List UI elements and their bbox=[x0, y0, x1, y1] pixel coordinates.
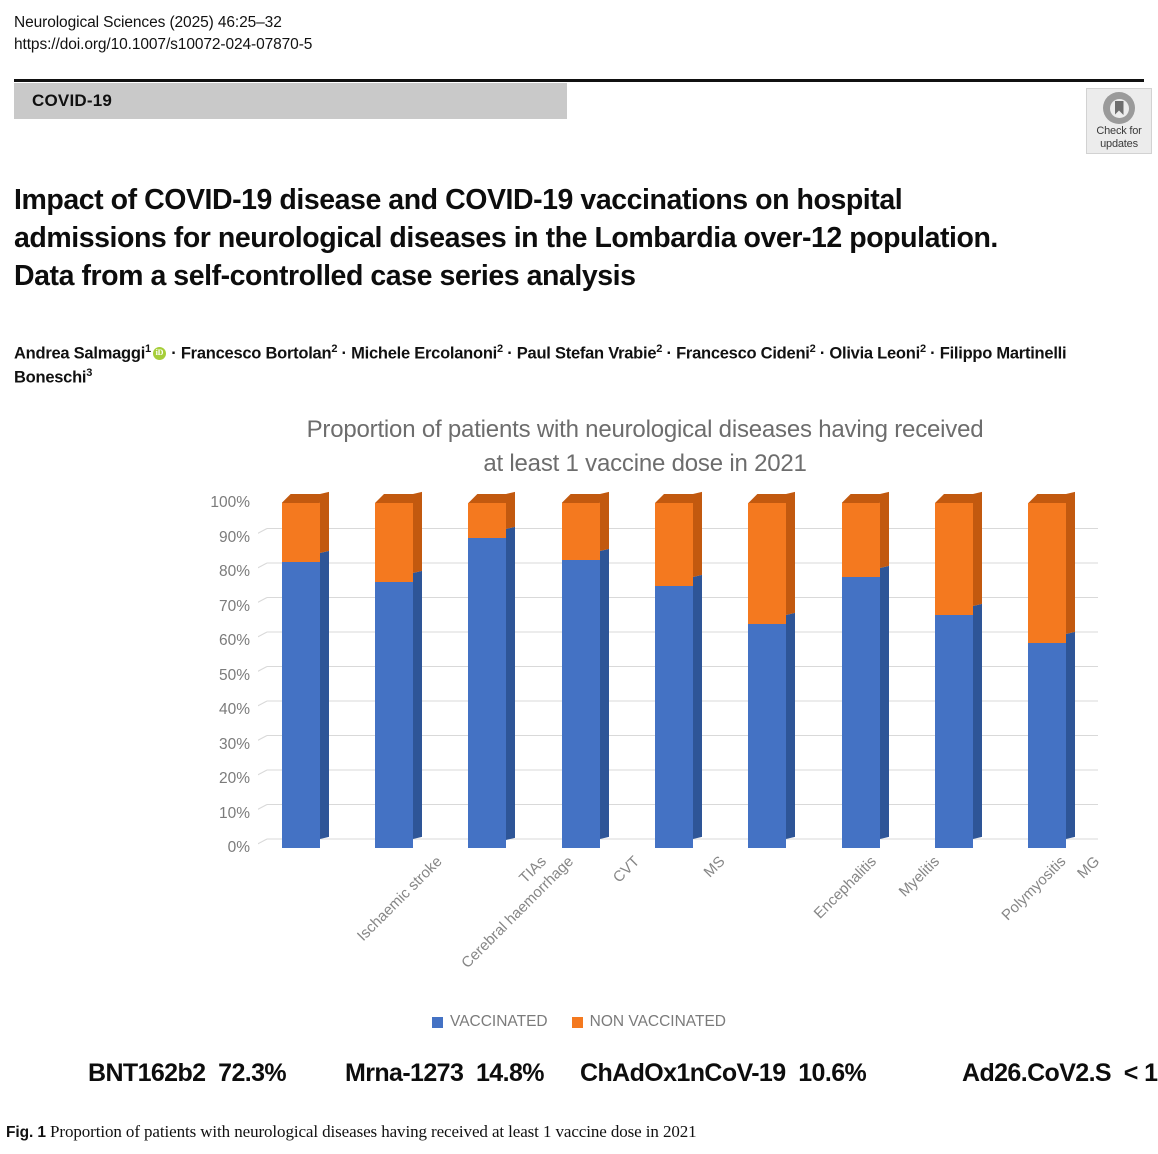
legend-swatch bbox=[572, 1017, 583, 1028]
crossmark-icon bbox=[1103, 92, 1135, 124]
vaccine-percentage: < 1 bbox=[1124, 1059, 1158, 1087]
bar-segment-side bbox=[693, 492, 702, 577]
author-name: Francesco Bortolan bbox=[181, 345, 331, 363]
bar-segment[interactable] bbox=[842, 577, 880, 848]
vaccine-stat: BNT162b2 72.3% bbox=[88, 1059, 286, 1088]
bar-group[interactable] bbox=[842, 503, 888, 848]
bar-segment-side bbox=[880, 566, 889, 839]
y-axis-tick-label: 60% bbox=[219, 632, 250, 650]
bar-segment-face bbox=[468, 503, 506, 538]
x-axis-tick-label: Cerebral haemorrhage bbox=[458, 853, 577, 972]
bar-segment[interactable] bbox=[655, 503, 693, 586]
vaccine-stat: Mrna-1273 14.8% bbox=[345, 1059, 544, 1088]
author-name: Andrea Salmaggi bbox=[14, 345, 145, 363]
bar-segment-face bbox=[935, 503, 973, 615]
author-name: Olivia Leoni bbox=[829, 345, 920, 363]
bar-segment-side bbox=[506, 526, 515, 839]
bar-segment-face bbox=[282, 562, 320, 848]
crossmark-line1: Check for bbox=[1096, 125, 1141, 137]
vaccine-stat: ChAdOx1nCoV-19 10.6% bbox=[580, 1059, 866, 1088]
legend-label: NON VACCINATED bbox=[590, 1013, 726, 1031]
vaccine-name: Ad26.CoV2.S bbox=[962, 1059, 1111, 1087]
bar-segment-face bbox=[748, 503, 786, 624]
author-name: Francesco Cideni bbox=[676, 345, 810, 363]
x-axis-tick-label: Polymyositis bbox=[998, 853, 1069, 924]
orcid-icon[interactable] bbox=[153, 347, 166, 360]
bar-segment-face bbox=[1028, 643, 1066, 848]
section-tag: COVID-19 bbox=[14, 83, 567, 119]
bar-segment[interactable] bbox=[468, 538, 506, 849]
legend-label: VACCINATED bbox=[450, 1013, 548, 1031]
bar-group[interactable] bbox=[282, 503, 328, 848]
bar-segment-face bbox=[748, 624, 786, 848]
legend-item[interactable]: NON VACCINATED bbox=[572, 1013, 726, 1031]
x-axis-tick-label: CVT bbox=[609, 853, 642, 886]
bar-segment-face bbox=[655, 503, 693, 586]
bar-segment-face bbox=[375, 503, 413, 582]
legend-swatch bbox=[432, 1017, 443, 1028]
vaccine-distribution-row: BNT162b2 72.3%Mrna-1273 14.8%ChAdOx1nCoV… bbox=[0, 1052, 1158, 1094]
bar-segment-side bbox=[1066, 632, 1075, 839]
journal-header: Neurological Sciences (2025) 46:25–32 ht… bbox=[14, 12, 714, 56]
section-tag-label: COVID-19 bbox=[14, 91, 112, 111]
bar-segment[interactable] bbox=[282, 503, 320, 562]
bar-segment-face bbox=[562, 560, 600, 848]
crossmark-line2: updates bbox=[1100, 138, 1138, 150]
bar-group[interactable] bbox=[748, 503, 794, 848]
page-title: Impact of COVID-19 disease and COVID-19 … bbox=[14, 181, 1034, 296]
x-axis-tick-label: Myelitis bbox=[895, 853, 942, 900]
y-axis-tick-label: 90% bbox=[219, 529, 250, 547]
author-affiliation-marker: 2 bbox=[810, 343, 816, 355]
y-axis-tick-label: 80% bbox=[219, 563, 250, 581]
figure-caption-text: Proportion of patients with neurological… bbox=[50, 1122, 697, 1141]
chart-title-line: Proportion of patients with neurological… bbox=[200, 413, 1090, 447]
figure-caption-label: Fig. 1 bbox=[6, 1124, 46, 1141]
vaccine-percentage: 10.6% bbox=[798, 1059, 866, 1087]
x-axis-tick-label: Ischaemic stroke bbox=[354, 853, 446, 945]
bar-segment[interactable] bbox=[1028, 643, 1066, 848]
author-affiliation-marker: 2 bbox=[920, 343, 926, 355]
bar-segment[interactable] bbox=[282, 562, 320, 848]
y-axis-tick-label: 30% bbox=[219, 736, 250, 754]
bar-segment[interactable] bbox=[375, 503, 413, 582]
bar-segment-face bbox=[842, 577, 880, 848]
bar-group[interactable] bbox=[562, 503, 608, 848]
author-affiliation-marker: 2 bbox=[656, 343, 662, 355]
chart-legend: VACCINATEDNON VACCINATED bbox=[0, 1013, 1158, 1031]
bar-segment-side bbox=[320, 551, 329, 839]
y-axis-tick-label: 50% bbox=[219, 667, 250, 685]
chart-title-line: at least 1 vaccine dose in 2021 bbox=[200, 447, 1090, 481]
author-list: Andrea Salmaggi1 · Francesco Bortolan2 ·… bbox=[14, 342, 1074, 391]
bar-segment[interactable] bbox=[748, 624, 786, 848]
y-axis-tick-label: 10% bbox=[219, 805, 250, 823]
bar-segment-side bbox=[973, 492, 982, 606]
vaccine-percentage: 72.3% bbox=[218, 1059, 286, 1087]
author-affiliation-marker: 2 bbox=[331, 343, 337, 355]
bar-segment-side bbox=[786, 613, 795, 839]
bar-segment[interactable] bbox=[375, 582, 413, 848]
bar-segment-side bbox=[786, 492, 795, 615]
figure-1: Proportion of patients with neurological… bbox=[0, 405, 1158, 1065]
x-axis-labels: Ischaemic strokeCerebral haemorrhageTIAs… bbox=[258, 853, 1138, 1003]
chart-title: Proportion of patients with neurological… bbox=[200, 413, 1090, 481]
bar-segment[interactable] bbox=[935, 615, 973, 848]
y-axis-tick-label: 20% bbox=[219, 770, 250, 788]
y-axis-tick-label: 40% bbox=[219, 701, 250, 719]
bar-segment-face bbox=[842, 503, 880, 577]
bar-segment-face bbox=[935, 615, 973, 848]
figure-caption: Fig. 1 Proportion of patients with neuro… bbox=[6, 1122, 1146, 1142]
bar-segment-side bbox=[1066, 492, 1075, 634]
y-axis-labels: 0%10%20%30%40%50%60%70%80%90%100% bbox=[188, 503, 250, 848]
bar-segment-face bbox=[282, 503, 320, 562]
header-divider bbox=[14, 79, 1144, 82]
author-affiliation-marker: 1 bbox=[145, 343, 151, 355]
bar-segment[interactable] bbox=[1028, 503, 1066, 643]
bar-segment[interactable] bbox=[562, 503, 600, 560]
vaccine-name: ChAdOx1nCoV-19 bbox=[580, 1059, 786, 1087]
bar-group[interactable] bbox=[468, 503, 514, 848]
y-axis-tick-label: 0% bbox=[228, 839, 250, 857]
y-axis-tick-label: 70% bbox=[219, 598, 250, 616]
bar-segment-face bbox=[375, 582, 413, 848]
bar-segment[interactable] bbox=[468, 503, 506, 538]
bar-segment-face bbox=[468, 538, 506, 849]
bar-segment-face bbox=[655, 586, 693, 848]
chart-bars bbox=[258, 503, 1098, 848]
author-affiliation-marker: 3 bbox=[86, 367, 92, 379]
bar-segment-side bbox=[600, 549, 609, 839]
bar-segment-face bbox=[1028, 503, 1066, 643]
bar-segment[interactable] bbox=[842, 503, 880, 577]
author-name: Michele Ercolanoni bbox=[351, 345, 497, 363]
bar-group[interactable] bbox=[375, 503, 421, 848]
bar-segment-side bbox=[693, 575, 702, 839]
vaccine-percentage: 14.8% bbox=[476, 1059, 544, 1087]
bar-segment-face bbox=[562, 503, 600, 560]
x-axis-tick-label: MG bbox=[1074, 853, 1103, 882]
bar-segment[interactable] bbox=[562, 560, 600, 848]
bar-segment-side bbox=[413, 571, 422, 839]
x-axis-tick-label: MS bbox=[701, 853, 729, 881]
vaccine-name: BNT162b2 bbox=[88, 1059, 205, 1087]
bar-segment[interactable] bbox=[655, 586, 693, 848]
bar-group[interactable] bbox=[935, 503, 981, 848]
legend-item[interactable]: VACCINATED bbox=[432, 1013, 548, 1031]
bar-segment-side bbox=[973, 604, 982, 839]
x-axis-tick-label: Encephalitis bbox=[811, 853, 880, 922]
author-affiliation-marker: 2 bbox=[497, 343, 503, 355]
journal-doi[interactable]: https://doi.org/10.1007/s10072-024-07870… bbox=[14, 34, 714, 56]
vaccine-stat: Ad26.CoV2.S < 1 bbox=[962, 1059, 1157, 1088]
bar-segment[interactable] bbox=[935, 503, 973, 615]
vaccine-name: Mrna-1273 bbox=[345, 1059, 463, 1087]
author-name: Paul Stefan Vrabie bbox=[517, 345, 656, 363]
bar-group[interactable] bbox=[655, 503, 701, 848]
bar-segment-side bbox=[413, 492, 422, 573]
journal-citation: Neurological Sciences (2025) 46:25–32 bbox=[14, 12, 714, 34]
y-axis-tick-label: 100% bbox=[210, 494, 250, 512]
bar-segment-side bbox=[880, 492, 889, 568]
check-for-updates-badge[interactable]: Check for updates bbox=[1086, 88, 1152, 154]
bar-group[interactable] bbox=[1028, 503, 1074, 848]
bar-segment[interactable] bbox=[748, 503, 786, 624]
